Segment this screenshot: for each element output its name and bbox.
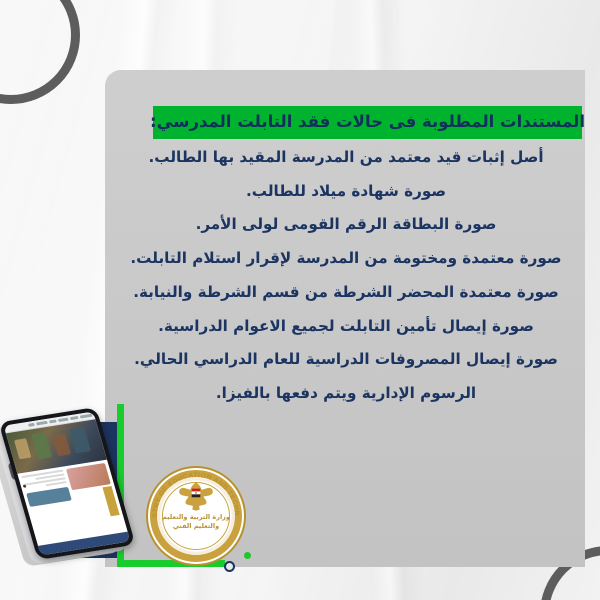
screen-gold-bar [102,486,119,516]
tablet-camera [23,484,27,487]
infographic-canvas: المستندات المطلوبة فى حالات فقد التابلت … [0,0,600,600]
eagle-of-saladin-icon [176,480,216,512]
required-documents-list: أصل إثبات قيد معتمد من المدرسة المقيد به… [110,150,582,420]
tablet-illustration [2,404,134,582]
screen-blue-block [26,487,72,507]
screen-content-body [17,460,127,546]
emblem-arabic-line-1: وزارة التربية والتعليم [160,513,232,522]
green-dot-decoration [244,552,251,559]
navy-circle-decoration [224,561,235,572]
emblem-arabic-line-2: والتعليم الفني [160,522,232,531]
emblem-arabic-text: وزارة التربية والتعليم والتعليم الفني [160,513,232,532]
title-banner: المستندات المطلوبة فى حالات فقد التابلت … [153,106,582,139]
list-item: الرسوم الإدارية ويتم دفعها بالفيزا. [216,386,476,401]
title-text: المستندات المطلوبة فى حالات فقد التابلت … [150,114,585,131]
list-item: أصل إثبات قيد معتمد من المدرسة المقيد به… [148,150,543,165]
list-item: صورة معتمدة ومختومة من المدرسة لإقرار اس… [130,251,561,266]
ministry-emblem: MINISTRY OF EDUCATION AND TECHNICAL وزار… [146,466,246,566]
list-item: صورة إيصال المصروفات الدراسية للعام الدر… [134,352,558,367]
list-item: صورة شهادة ميلاد للطالب. [246,184,446,199]
list-item: صورة معتمدة المحضر الشرطة من قسم الشرطة … [133,285,559,300]
list-item: صورة إيصال تأمين التابلت لجميع الاعوام ا… [158,319,534,334]
list-item: صورة البطاقة الرقم القومى لولى الأمر. [196,217,497,232]
